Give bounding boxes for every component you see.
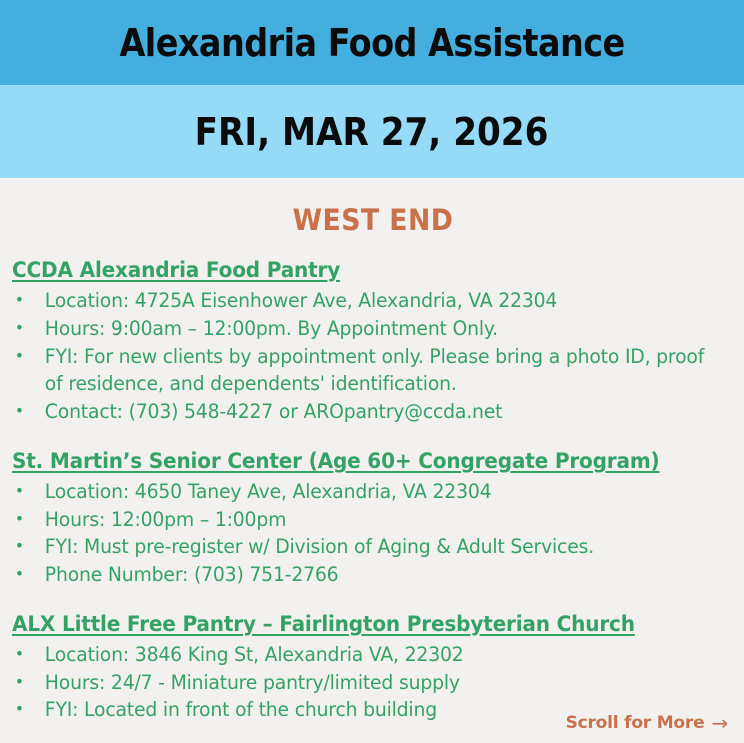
list-item: Hours: 24/7 - Miniature pantry/limited s… xyxy=(12,669,709,697)
scroll-for-more-label: Scroll for More xyxy=(566,715,705,732)
list-item: Location: 4650 Taney Ave, Alexandria, VA… xyxy=(12,478,709,506)
site-name-link[interactable]: St. Martin’s Senior Center (Age 60+ Cong… xyxy=(12,448,702,474)
site-name-link[interactable]: ALX Little Free Pantry – Fairlington Pre… xyxy=(12,611,702,637)
list-item: Hours: 12:00pm – 1:00pm xyxy=(12,506,709,534)
site-name-link[interactable]: CCDA Alexandria Food Pantry xyxy=(12,257,702,283)
site-entry: St. Martin’s Senior Center (Age 60+ Cong… xyxy=(12,448,734,589)
site-entry: ALX Little Free Pantry – Fairlington Pre… xyxy=(12,611,734,724)
scroll-for-more-button[interactable]: Scroll for More → xyxy=(566,713,728,733)
list-item: Hours: 9:00am – 12:00pm. By Appointment … xyxy=(12,315,709,343)
arrow-right-icon: → xyxy=(711,713,728,733)
site-details-list: Location: 4725A Eisenhower Ave, Alexandr… xyxy=(12,287,734,425)
list-item: FYI: For new clients by appointment only… xyxy=(12,343,709,398)
title-band: Alexandria Food Assistance xyxy=(0,0,744,85)
list-item: Location: 3846 King St, Alexandria VA, 2… xyxy=(12,641,709,669)
listing-content[interactable]: WEST END CCDA Alexandria Food Pantry Loc… xyxy=(0,178,744,743)
region-heading: WEST END xyxy=(41,206,705,235)
food-assistance-screen: Alexandria Food Assistance FRI, MAR 27, … xyxy=(0,0,744,743)
list-item: Location: 4725A Eisenhower Ave, Alexandr… xyxy=(12,287,709,315)
site-details-list: Location: 3846 King St, Alexandria VA, 2… xyxy=(12,641,734,724)
page-title: Alexandria Food Assistance xyxy=(119,24,624,62)
list-item: Phone Number: (703) 751-2766 xyxy=(12,561,709,589)
list-item: Contact: (703) 548-4227 or AROpantry@ccd… xyxy=(12,398,709,426)
site-details-list: Location: 4650 Taney Ave, Alexandria, VA… xyxy=(12,478,734,589)
site-entry: CCDA Alexandria Food Pantry Location: 47… xyxy=(12,257,734,426)
list-item: FYI: Must pre-register w/ Division of Ag… xyxy=(12,533,709,561)
date-label: FRI, MAR 27, 2026 xyxy=(195,113,549,151)
date-band: FRI, MAR 27, 2026 xyxy=(0,85,744,178)
